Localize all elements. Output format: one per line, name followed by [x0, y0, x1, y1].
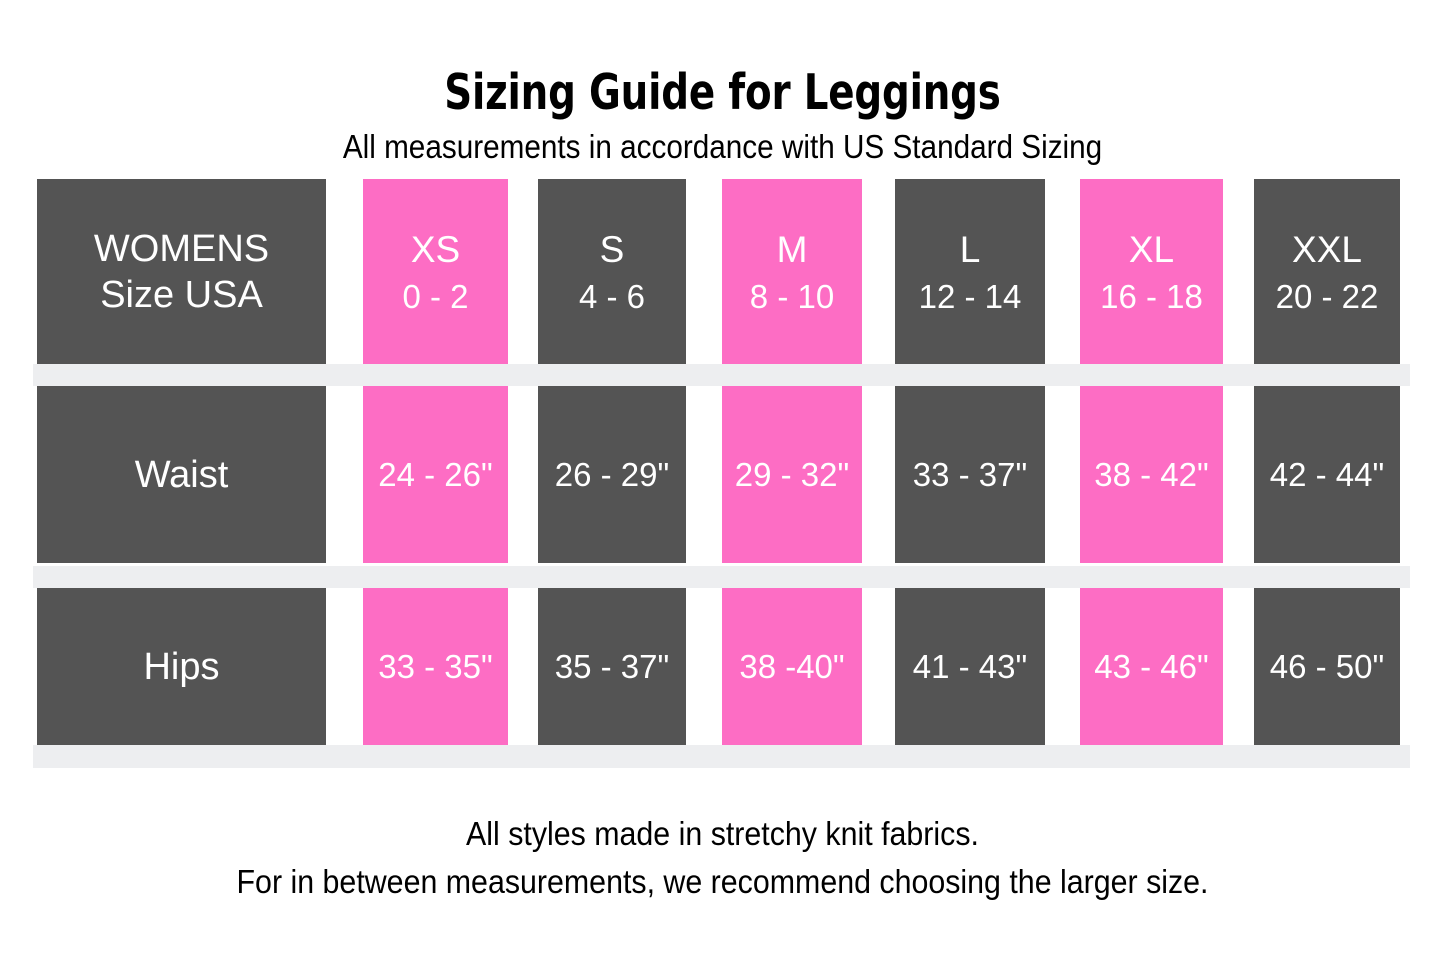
- footer-note-line-2: For in between measurements, we recommen…: [58, 861, 1387, 903]
- hips-value-xl: 43 - 46": [1080, 588, 1223, 745]
- footer-note-line-1: All styles made in stretchy knit fabrics…: [58, 813, 1387, 855]
- row-label-hips: Hips: [37, 588, 326, 745]
- waist-value-m: 29 - 32": [722, 386, 862, 563]
- size-range-xs: 0 - 2: [402, 275, 468, 319]
- waist-value-xs: 24 - 26": [363, 386, 508, 563]
- row-label-waist: Waist: [37, 386, 326, 563]
- size-code-xl: XL: [1129, 225, 1174, 275]
- size-range-xl: 16 - 18: [1100, 275, 1203, 319]
- waist-value-xxl: 42 - 44": [1254, 386, 1400, 563]
- waist-value-l: 33 - 37": [895, 386, 1045, 563]
- size-range-s: 4 - 6: [579, 275, 645, 319]
- hips-value-xxl: 46 - 50": [1254, 588, 1400, 745]
- hips-value-s: 35 - 37": [538, 588, 686, 745]
- size-header-xxl: XXL 20 - 22: [1254, 179, 1400, 364]
- size-header-xs: XS 0 - 2: [363, 179, 508, 364]
- size-code-m: M: [777, 225, 808, 275]
- size-range-l: 12 - 14: [919, 275, 1022, 319]
- size-header-m: M 8 - 10: [722, 179, 862, 364]
- table-bottom-band: [33, 745, 1410, 768]
- row-separator-band-2: [33, 566, 1410, 588]
- size-range-xxl: 20 - 22: [1276, 275, 1379, 319]
- hips-value-l: 41 - 43": [895, 588, 1045, 745]
- hips-value-m: 38 -40": [722, 588, 862, 745]
- row-label-hips-text: Hips: [143, 644, 219, 690]
- size-header-xl: XL 16 - 18: [1080, 179, 1223, 364]
- header-corner-line1: WOMENS: [94, 226, 269, 272]
- size-code-xxl: XXL: [1292, 225, 1362, 275]
- waist-value-xl: 38 - 42": [1080, 386, 1223, 563]
- size-code-xs: XS: [411, 225, 460, 275]
- row-separator-band-1: [33, 364, 1410, 386]
- header-corner-line2: Size USA: [100, 272, 263, 318]
- size-header-l: L 12 - 14: [895, 179, 1045, 364]
- size-code-l: L: [960, 225, 981, 275]
- size-header-s: S 4 - 6: [538, 179, 686, 364]
- hips-value-xs: 33 - 35": [363, 588, 508, 745]
- row-label-waist-text: Waist: [135, 452, 229, 498]
- size-range-m: 8 - 10: [750, 275, 834, 319]
- header-corner-label: WOMENS Size USA: [37, 179, 326, 364]
- waist-value-s: 26 - 29": [538, 386, 686, 563]
- size-code-s: S: [600, 225, 625, 275]
